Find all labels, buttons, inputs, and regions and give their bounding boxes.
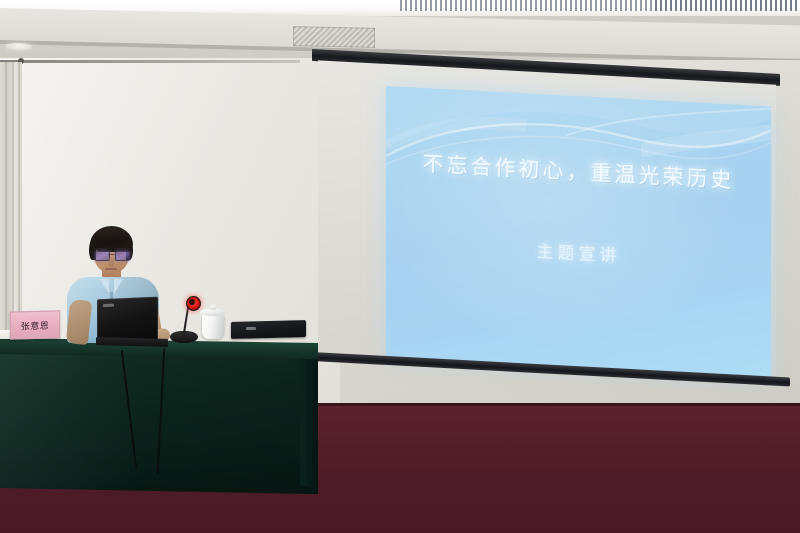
slide-title: 不忘合作初心，重温光荣历史 [386, 146, 771, 197]
person-nose [109, 258, 114, 267]
person-arm-left [66, 299, 92, 345]
laptop-logo-icon [103, 304, 114, 307]
shirt-collar-left [100, 279, 109, 294]
teacup-lid [200, 309, 226, 316]
table-side-face [300, 352, 318, 490]
ceiling-air-vent-icon [293, 26, 375, 48]
microphone-capsule-icon [189, 299, 195, 305]
document-folder[interactable] [231, 320, 306, 339]
teacup-body [202, 314, 224, 339]
folder-clip-icon [246, 327, 256, 330]
person-eyebrow-left [96, 248, 107, 250]
screen-surface: 不忘合作初心，重温光荣历史 主题宣讲 [318, 60, 776, 384]
ceiling-vent-grille-secondary-icon [655, 0, 800, 11]
slide-subtitle: 主题宣讲 [386, 229, 771, 275]
curtain-rail [0, 60, 300, 63]
nameplate: 张意恩 [10, 310, 60, 339]
person-eyebrow-right [116, 248, 127, 250]
nameplate-text: 张意恩 [21, 318, 50, 332]
person-mouth [105, 268, 117, 270]
conference-room-scene: 不忘合作初心，重温光荣历史 主题宣讲 [0, 0, 800, 533]
teacup-lid-knob [210, 305, 216, 310]
shirt-collar-right [114, 279, 123, 294]
projection-screen: 不忘合作初心，重温光荣历史 主题宣讲 [312, 49, 780, 404]
projected-slide: 不忘合作初心，重温光荣历史 主题宣讲 [386, 86, 771, 379]
